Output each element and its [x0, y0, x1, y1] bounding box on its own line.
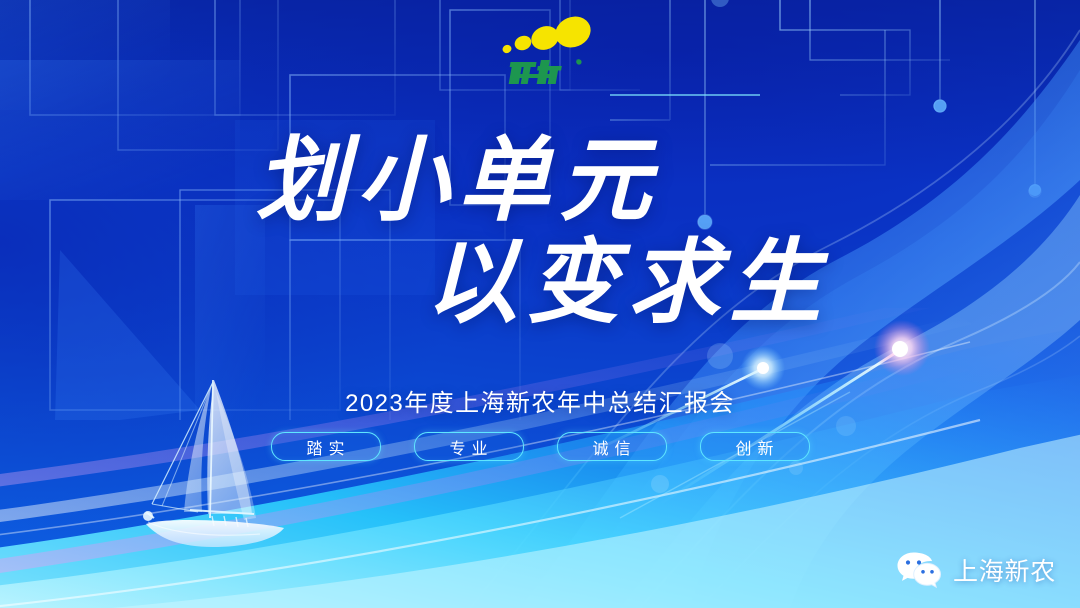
logo-dots: [501, 14, 595, 54]
value-pill[interactable]: 专业: [414, 432, 524, 461]
value-pill[interactable]: 踏实: [271, 432, 381, 461]
wechat-account-footer[interactable]: 上海新农: [896, 550, 1056, 590]
wechat-icon: [896, 550, 942, 590]
subtitle: 2023年度上海新农年中总结汇报会: [0, 383, 1080, 418]
xinnong-logo: ®: [497, 14, 597, 100]
value-pill-group: 踏实 专业 诚信 创新: [0, 432, 1080, 461]
wechat-account-name: 上海新农: [953, 552, 1056, 588]
svg-text:®: ®: [576, 59, 581, 66]
value-pill[interactable]: 诚信: [557, 432, 667, 461]
logo-wordmark: ®: [509, 59, 582, 84]
value-pill[interactable]: 创新: [700, 432, 810, 461]
poster-canvas: ® 划小单元 以变求生 2023年度上海新农年中总结汇报会 踏实 专业 诚信 创…: [0, 0, 1080, 608]
